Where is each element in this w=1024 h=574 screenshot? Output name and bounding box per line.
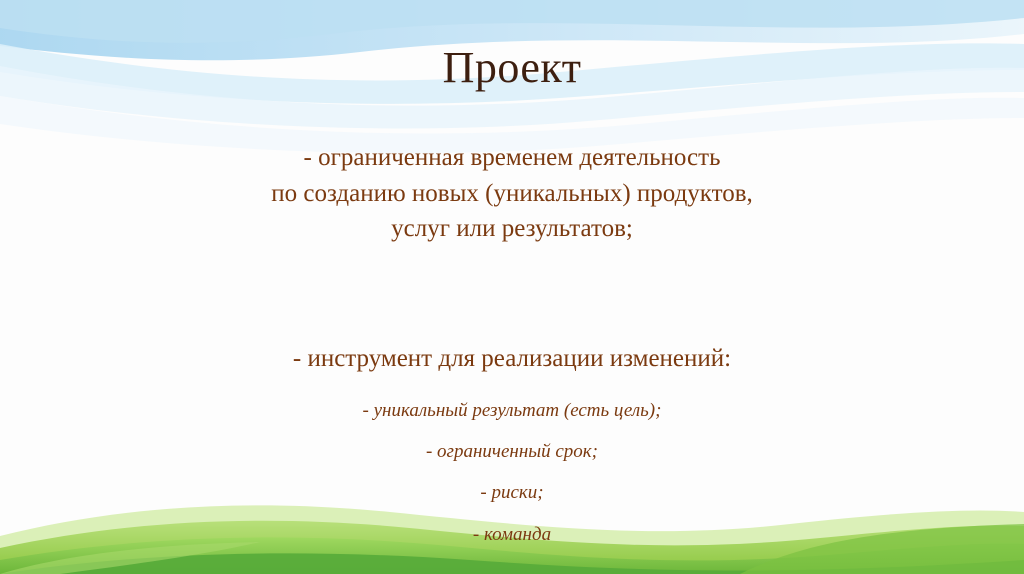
sub-list: - уникальный результат (есть цель); - ог… — [0, 390, 1024, 555]
page-title: Проект — [0, 44, 1024, 92]
definition-line-2: по созданию новых (уникальных) продуктов… — [0, 176, 1024, 212]
list-item: - команда — [0, 514, 1024, 555]
list-item: - уникальный результат (есть цель); — [0, 390, 1024, 431]
definition-line-3: услуг или результатов; — [0, 211, 1024, 247]
definition-block: - ограниченная временем деятельность по … — [0, 140, 1024, 247]
second-heading: - инструмент для реализации изменений: — [0, 343, 1024, 376]
definition-line-1: - ограниченная временем деятельность — [0, 140, 1024, 176]
slide: Проект - ограниченная временем деятельно… — [0, 0, 1024, 574]
list-item: - ограниченный срок; — [0, 431, 1024, 472]
slide-content: Проект - ограниченная временем деятельно… — [0, 0, 1024, 574]
list-item: - риски; — [0, 472, 1024, 513]
